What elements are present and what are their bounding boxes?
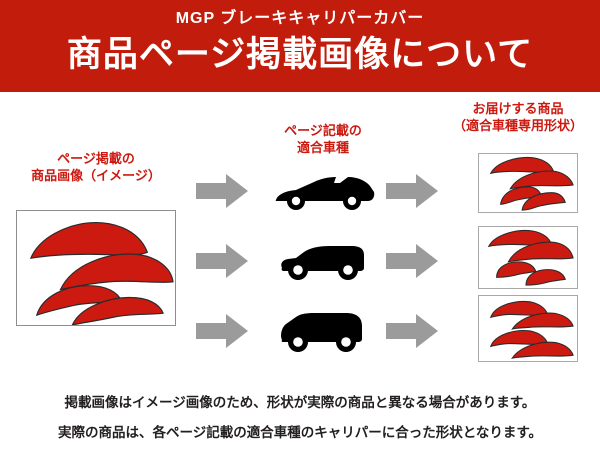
- middle-column-label-line1: ページ記載の: [250, 122, 396, 139]
- caliper-cover-set-van-icon: [479, 296, 577, 361]
- sports-car-icon: [270, 168, 376, 214]
- caliper-cover-set-suv-icon: [479, 227, 577, 288]
- page-header: MGP ブレーキキャリパーカバー 商品ページ掲載画像について: [0, 0, 600, 92]
- caliper-cover-set-sports-icon: [479, 154, 577, 212]
- right-column-label: お届けする商品 （適合車種専用形状）: [438, 100, 598, 134]
- suv-icon: [270, 238, 376, 284]
- right-arrow-icon: [196, 314, 248, 348]
- right-column-label-line1: お届けする商品: [438, 100, 598, 117]
- middle-column-label: ページ記載の 適合車種: [250, 122, 396, 156]
- diagram-stage: ページ掲載の 商品画像（イメージ） ページ記載の 適合車種: [0, 92, 600, 380]
- source-product-image-box: [16, 210, 176, 326]
- left-column-label: ページ掲載の 商品画像（イメージ）: [16, 150, 176, 184]
- footer-notice: 掲載画像はイメージ画像のため、形状が実際の商品と異なる場合があります。 実際の商…: [0, 380, 600, 450]
- page-title: 商品ページ掲載画像について: [67, 32, 533, 78]
- footer-notice-line2: 実際の商品は、各ページ記載の適合車種のキャリパーに合った形状となります。: [0, 418, 600, 448]
- right-arrow-icon: [386, 314, 438, 348]
- right-arrow-icon: [386, 244, 438, 278]
- footer-notice-line1: 掲載画像はイメージ画像のため、形状が実際の商品と異なる場合があります。: [0, 388, 600, 418]
- right-column-label-line2: （適合車種専用形状）: [438, 117, 598, 134]
- result-product-box: [478, 226, 578, 289]
- right-arrow-icon: [196, 244, 248, 278]
- right-arrow-icon: [196, 174, 248, 208]
- caliper-cover-set-source-icon: [17, 211, 175, 325]
- left-column-label-line1: ページ掲載の: [16, 150, 176, 167]
- result-product-box: [478, 295, 578, 362]
- van-icon: [270, 308, 376, 354]
- header-subtitle: MGP ブレーキキャリパーカバー: [176, 8, 425, 30]
- right-arrow-icon: [386, 174, 438, 208]
- middle-column-label-line2: 適合車種: [250, 139, 396, 156]
- left-column-label-line2: 商品画像（イメージ）: [16, 167, 176, 184]
- result-product-box: [478, 153, 578, 213]
